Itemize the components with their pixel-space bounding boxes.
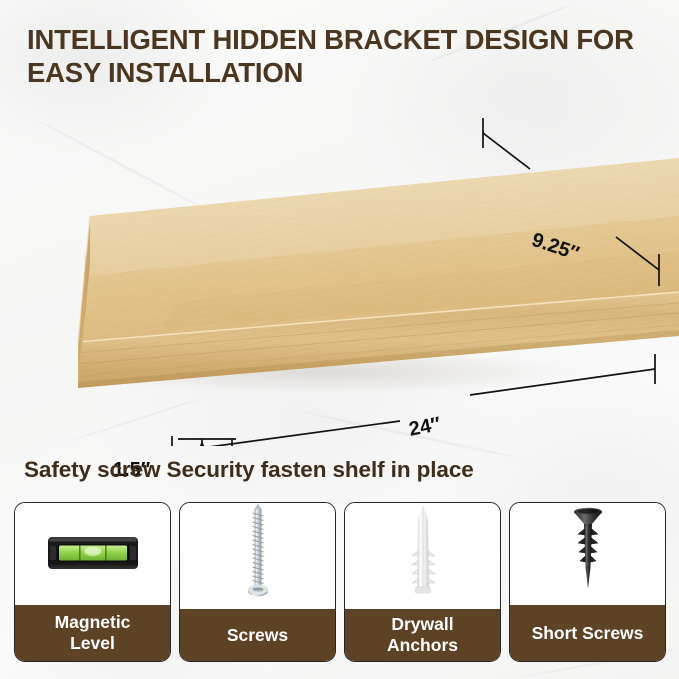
- accessory-card-screws[interactable]: Screws: [179, 502, 336, 662]
- accessory-card-short-screws[interactable]: Short Screws: [509, 502, 666, 662]
- accessory-card-drywall-anchors[interactable]: Drywall Anchors: [344, 502, 501, 662]
- accessory-label: Short Screws: [510, 605, 665, 661]
- accessory-image: [510, 503, 665, 605]
- shelf-illustration: 9.25″ 24″ 1.5″: [0, 96, 679, 446]
- accessory-label: Drywall Anchors: [345, 609, 500, 661]
- shelf-render: [0, 96, 679, 446]
- page-title: INTELLIGENT HIDDEN BRACKET DESIGN FOR EA…: [27, 23, 667, 89]
- section-subheading: Safety screw Security fasten shelf in pl…: [24, 457, 474, 483]
- accessory-image: [345, 503, 500, 609]
- accessory-image: [180, 503, 335, 609]
- drywall-anchor-icon: [403, 503, 443, 607]
- short-screw-icon: [565, 505, 611, 601]
- accessories-card-row: Magnetic Level: [14, 502, 666, 662]
- accessory-label: Screws: [180, 609, 335, 661]
- infographic-page: INTELLIGENT HIDDEN BRACKET DESIGN FOR EA…: [0, 0, 679, 679]
- accessory-label: Magnetic Level: [15, 605, 170, 661]
- magnetic-level-icon: [47, 535, 139, 571]
- accessory-card-magnetic-level[interactable]: Magnetic Level: [14, 502, 171, 662]
- long-screw-icon: [241, 503, 275, 607]
- accessory-image: [15, 503, 170, 605]
